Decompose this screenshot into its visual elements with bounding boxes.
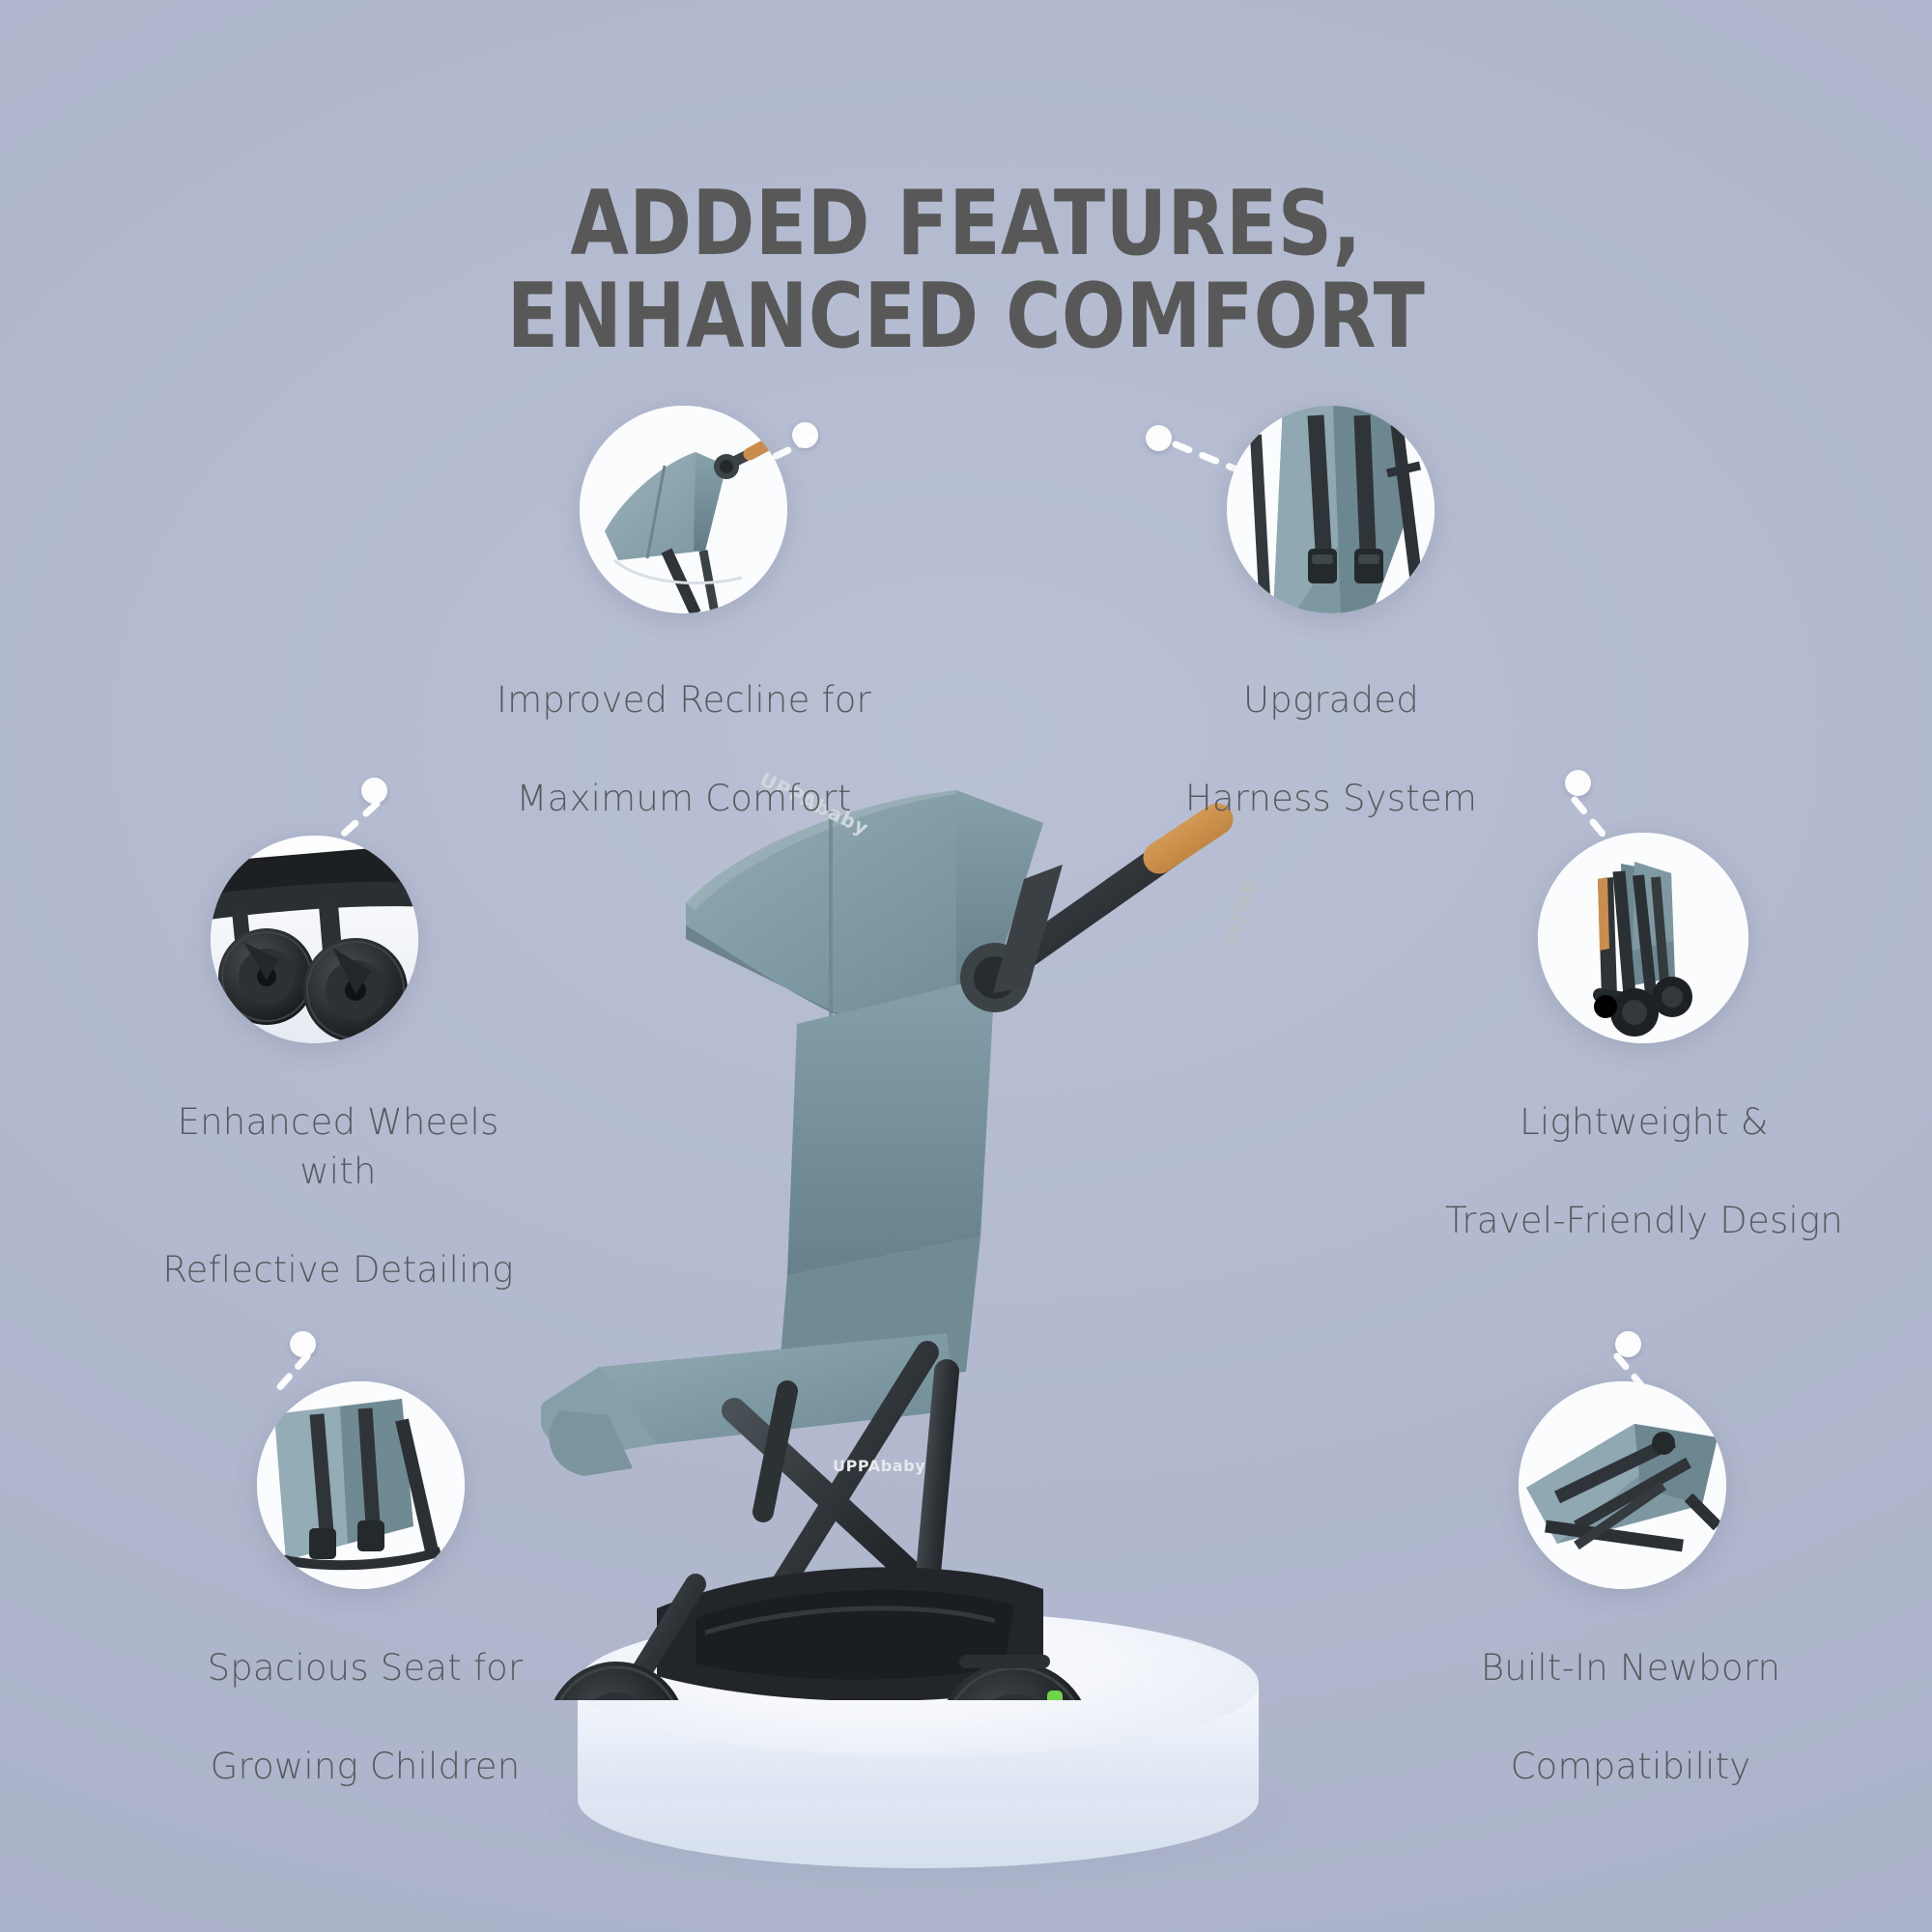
feature-circle-newborn-compatibility[interactable] <box>1519 1381 1726 1589</box>
caption-line-2: Compatibility <box>1511 1746 1751 1787</box>
connector-dot-lightweight-travel <box>1565 770 1591 796</box>
harness-icon <box>1227 406 1435 613</box>
caption-line-1: Upgraded <box>1243 679 1419 721</box>
feature-circle-spacious-seat[interactable] <box>257 1381 465 1589</box>
caption-line-1: Spacious Seat for <box>208 1647 524 1689</box>
infographic-canvas: ADDED FEATURES, ENHANCED COMFORT <box>0 0 1932 1932</box>
caption-line-1: Enhanced Wheels with <box>178 1101 499 1192</box>
feature-circle-improved-recline[interactable] <box>580 406 787 613</box>
title-line-2: ENHANCED COMFORT <box>155 270 1777 363</box>
caption-line-1: Improved Recline for <box>497 679 871 721</box>
caption-line-2: Maximum Comfort <box>517 778 852 819</box>
caption-line-1: Built-In Newborn <box>1481 1647 1780 1689</box>
connector-dot-upgraded-harness <box>1146 425 1172 451</box>
basket-brand-tag: UPPAbaby <box>833 1457 925 1475</box>
stroller-illustration <box>541 734 1410 1700</box>
caption-line-2: Harness System <box>1185 778 1477 819</box>
caption-line-1: Lightweight & <box>1520 1101 1769 1143</box>
title-line-1: ADDED FEATURES, <box>570 171 1361 275</box>
feature-caption-spacious-seat: Spacious Seat for Growing Children <box>162 1594 568 1791</box>
newborn-recline-icon <box>1519 1381 1726 1589</box>
caption-line-2: Reflective Detailing <box>162 1249 513 1291</box>
caption-line-2: Growing Children <box>211 1746 521 1787</box>
wheels-icon <box>211 836 418 1043</box>
folded-stroller-icon <box>1538 833 1748 1043</box>
feature-circle-lightweight-travel[interactable] <box>1538 833 1748 1043</box>
seat-icon <box>257 1381 465 1589</box>
caption-line-2: Travel-Friendly Design <box>1445 1200 1843 1241</box>
feature-caption-newborn-compatibility: Built-In Newborn Compatibility <box>1428 1594 1833 1791</box>
feature-caption-enhanced-wheels: Enhanced Wheels with Reflective Detailin… <box>135 1048 541 1294</box>
feature-caption-lightweight-travel: Lightweight & Travel-Friendly Design <box>1412 1048 1876 1245</box>
page-title: ADDED FEATURES, ENHANCED COMFORT <box>155 83 1777 457</box>
canopy-recline-icon <box>580 406 787 613</box>
feature-circle-upgraded-harness[interactable] <box>1227 406 1435 613</box>
feature-circle-enhanced-wheels[interactable] <box>211 836 418 1043</box>
feature-caption-improved-recline: Improved Recline for Maximum Comfort <box>404 626 964 823</box>
feature-caption-upgraded-harness: Upgraded Harness System <box>1070 626 1592 823</box>
